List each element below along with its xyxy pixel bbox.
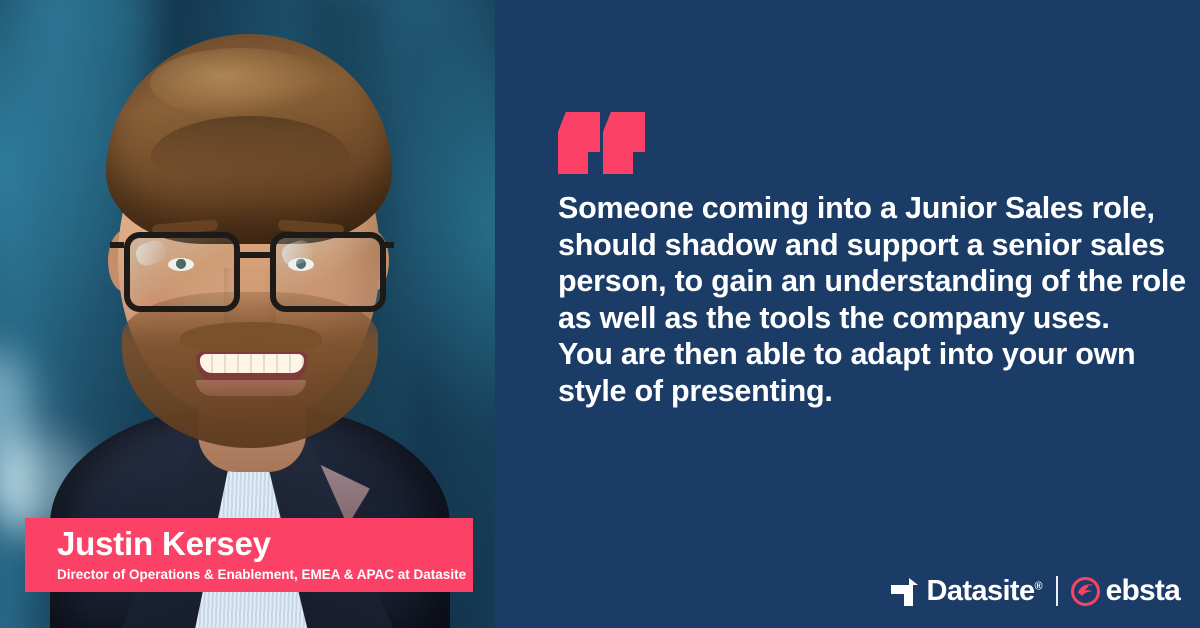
person-title: Director of Operations & Enablement, EME… [57,567,473,583]
subject-teeth [200,354,304,373]
name-banner: Justin Kersey Director of Operations & E… [25,518,473,592]
subject-lower-lip [196,380,306,396]
ebsta-logo[interactable]: ebsta [1071,576,1180,606]
quote-line: as well as the tools the company uses. [558,300,1183,337]
subject-mustache [180,322,322,354]
quote-text: Someone coming into a Junior Sales role,… [558,190,1183,409]
ebsta-wordmark: ebsta [1106,576,1180,606]
glasses-icon [118,232,386,310]
datasite-logo[interactable]: Datasite® [891,577,1042,606]
quote-line: style of presenting. [558,373,1183,410]
quote-line: Someone coming into a Junior Sales role, [558,190,1183,227]
datasite-wordmark: Datasite® [926,577,1042,606]
logo-divider [1056,576,1058,606]
ebsta-circle-bird-icon [1071,577,1100,606]
quote-panel: Someone coming into a Junior Sales role,… [495,0,1200,628]
datasite-wordmark-text: Datasite [926,575,1034,607]
footer-logos: Datasite® ebsta [891,576,1180,606]
datasite-flag-mark-icon [891,578,918,606]
quote-line: person, to gain an understanding of the … [558,263,1183,300]
quote-line: You are then able to adapt into your own [558,336,1183,373]
registered-symbol: ® [1035,580,1043,592]
subject-hair-highlight [150,48,330,118]
glasses-temple-left [110,242,124,248]
double-quote-icon [558,112,654,174]
person-name: Justin Kersey [57,527,473,562]
quote-line: should shadow and support a senior sales [558,227,1183,264]
glasses-bridge [234,252,272,258]
quote-card: Justin Kersey Director of Operations & E… [0,0,1200,628]
